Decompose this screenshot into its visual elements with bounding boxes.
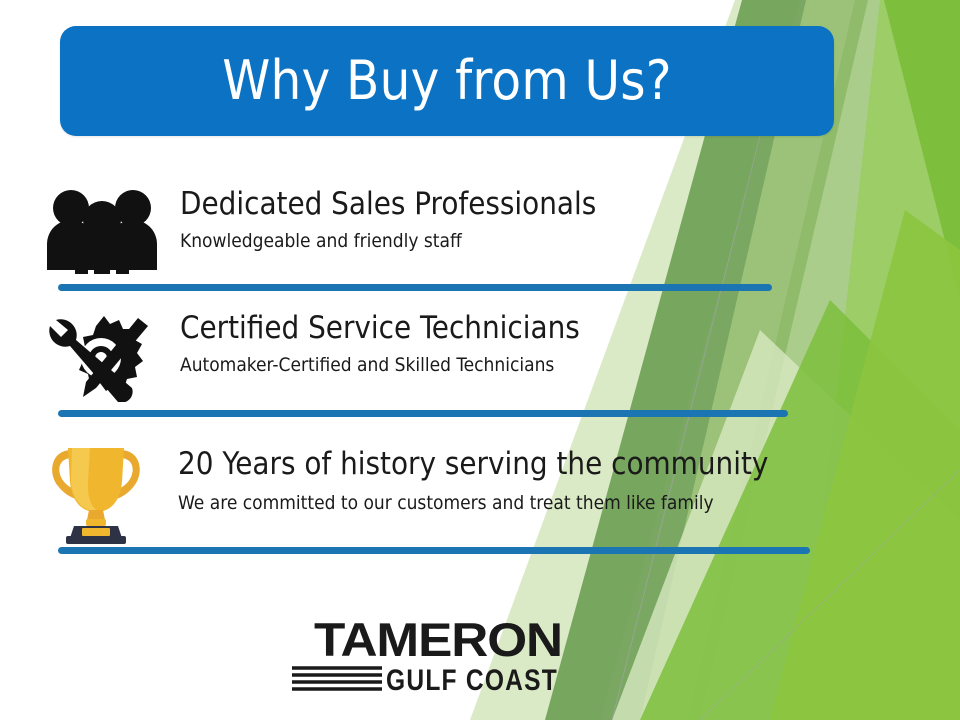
feature-subtitle: Automaker-Certified and Skilled Technici… [180,355,580,376]
logo-tagline: GULF COAST [386,664,558,697]
people-group-icon [42,186,162,278]
feature-divider [58,547,810,554]
decor-thin-line-1 [612,128,762,720]
feature-text-block: 20 Years of history serving the communit… [178,448,768,514]
wrench-screwdriver-gear-icon [42,310,162,406]
feature-subtitle: We are committed to our customers and tr… [178,493,768,514]
trophy-icon [42,440,152,548]
slide-canvas: Why Buy from Us? Dedicated Sales Profess… [0,0,960,720]
decor-shape-pale-2 [612,330,960,720]
decor-shape-bright-3 [770,210,960,720]
feature-title: Dedicated Sales Professionals [180,188,596,221]
feature-text-block: Dedicated Sales Professionals Knowledgea… [180,188,596,252]
logo-stripes [292,668,382,689]
feature-title: 20 Years of history serving the communit… [178,448,768,481]
logo-wordmark: TAMERON [314,613,562,666]
tameron-gulf-coast-logo: TAMERON GULF COAST [290,612,565,702]
feature-title: Certified Service Technicians [180,312,580,345]
feature-divider [58,284,772,291]
feature-divider [58,410,788,417]
page-title: Why Buy from Us? [222,54,672,108]
slide-title-banner: Why Buy from Us? [60,26,834,136]
feature-subtitle: Knowledgeable and friendly staff [180,231,596,252]
feature-text-block: Certified Service Technicians Automaker-… [180,312,580,376]
